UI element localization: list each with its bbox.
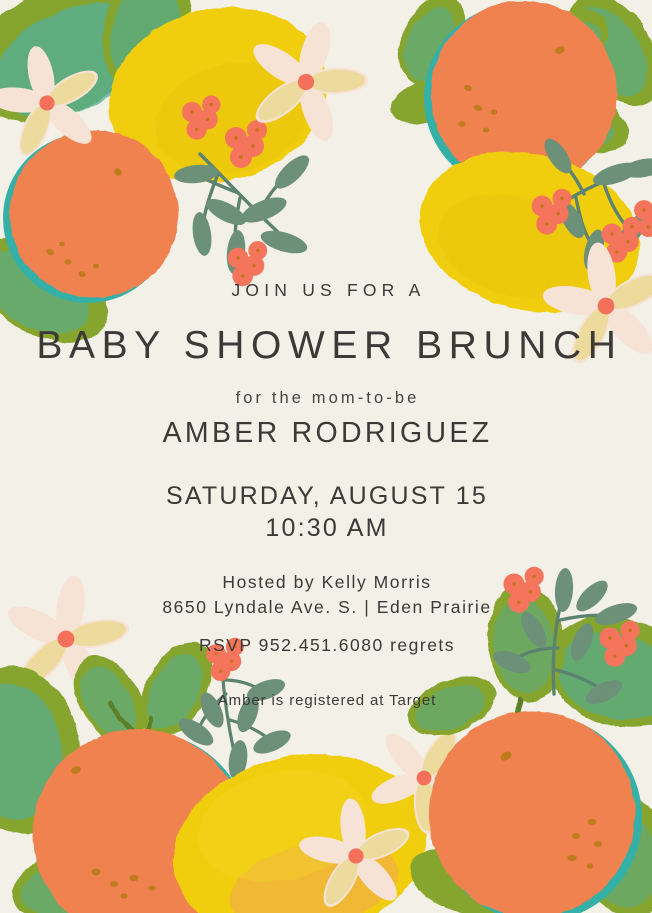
event-date: SATURDAY, AUGUST 15 — [166, 482, 488, 510]
page-title: BABY SHOWER BRUNCH — [7, 326, 652, 367]
invite-line: JOIN US FOR A — [5, 281, 652, 300]
honoree-prefix: for the mom-to-be — [3, 389, 652, 407]
event-datetime: SATURDAY, AUGUST 15 10:30 AM — [2, 480, 652, 544]
host-and-address: Hosted by Kelly Morris 8650 Lyndale Ave.… — [2, 570, 652, 620]
invitation-card: JOIN US FOR A BABY SHOWER BRUNCH for the… — [0, 0, 652, 913]
rsvp-line: RSVP 952.451.6080 regrets — [2, 636, 652, 655]
address-line: 8650 Lyndale Ave. S. | Eden Prairie — [162, 597, 491, 617]
host-line: Hosted by Kelly Morris — [222, 572, 431, 592]
registry-line: Amber is registered at Target — [2, 693, 652, 710]
event-time: 10:30 AM — [265, 514, 388, 542]
honoree-name: AMBER RODRIGUEZ — [3, 418, 652, 449]
invitation-text-block: JOIN US FOR A BABY SHOWER BRUNCH for the… — [0, 281, 652, 709]
